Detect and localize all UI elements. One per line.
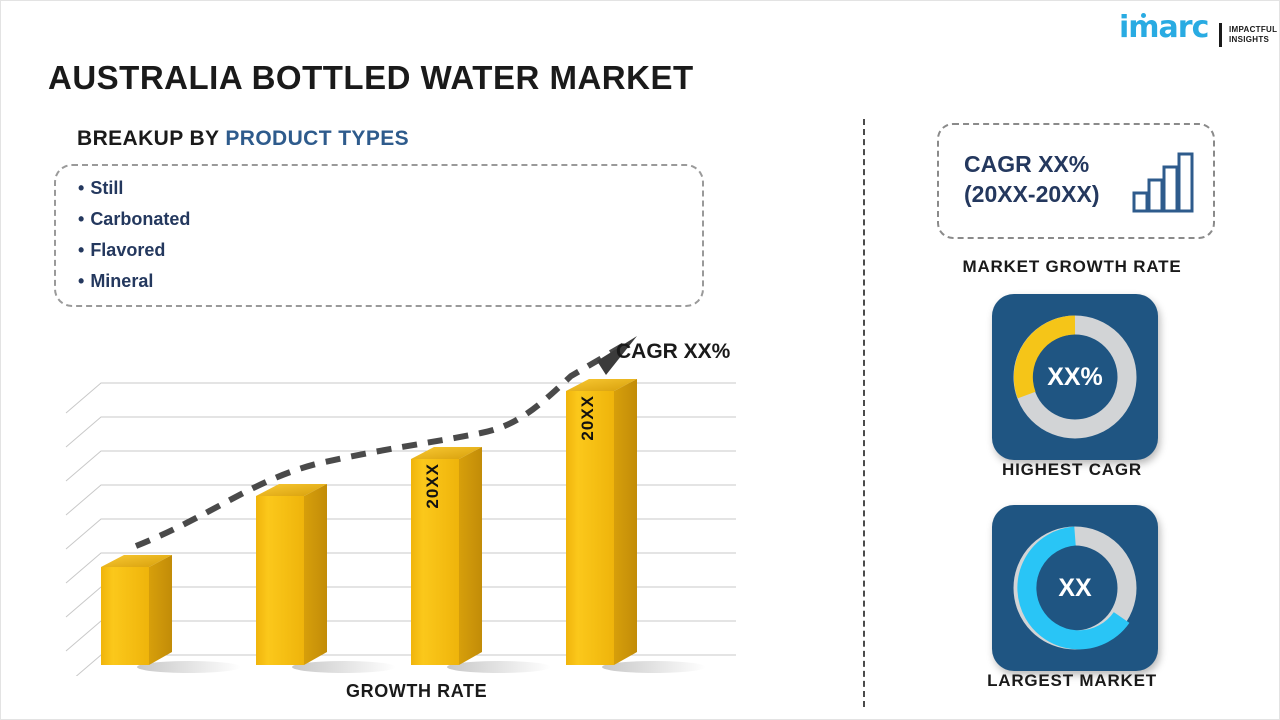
list-item-label: Mineral [90, 271, 153, 291]
chart-x-axis-label: GROWTH RATE [346, 681, 487, 702]
market-growth-rate-caption: MARKET GROWTH RATE [863, 257, 1280, 277]
bar-chart-icon [1132, 151, 1194, 213]
highest-cagr-donut-icon [992, 294, 1158, 460]
infographic-page: imarc IMPACTFUL INSIGHTS AUSTRALIA BOTTL… [0, 0, 1280, 720]
bullet-icon: • [78, 178, 84, 198]
cagr-summary-box: CAGR XX% (20XX-20XX) [937, 123, 1215, 239]
bullet-icon: • [78, 240, 84, 260]
logo-tagline-line2: INSIGHTS [1229, 35, 1277, 45]
logo-dot-icon [1141, 13, 1146, 18]
product-types-box: •Still •Carbonated •Flavored •Mineral [54, 164, 704, 307]
bar-3 [411, 447, 482, 665]
page-title: AUSTRALIA BOTTLED WATER MARKET [48, 59, 694, 97]
cagr-trend-label: CAGR XX% [616, 340, 730, 364]
breakup-heading-highlight: PRODUCT TYPES [225, 127, 409, 150]
bar-label-3: 20XX [423, 463, 443, 509]
chart-canvas [61, 331, 751, 676]
list-item: •Still [78, 178, 123, 199]
list-item: •Mineral [78, 271, 153, 292]
logo-divider [1219, 23, 1222, 47]
bar-label-4: 20XX [578, 395, 598, 441]
largest-market-card: XX [992, 505, 1158, 671]
breakup-heading: BREAKUP BY PRODUCT TYPES [77, 127, 409, 151]
bullet-icon: • [78, 209, 84, 229]
bar-1 [101, 555, 172, 665]
list-item-label: Carbonated [90, 209, 190, 229]
breakup-heading-prefix: BREAKUP BY [77, 127, 219, 150]
bar-4 [566, 379, 637, 665]
cagr-period: (20XX-20XX) [964, 179, 1100, 209]
bullet-icon: • [78, 271, 84, 291]
cagr-summary-text: CAGR XX% (20XX-20XX) [964, 149, 1100, 209]
growth-rate-bar-chart: 20XX 20XX CAGR XX% GROWTH RATE [61, 331, 751, 711]
list-item: •Flavored [78, 240, 165, 261]
list-item: •Carbonated [78, 209, 190, 230]
imarc-logo: imarc IMPACTFUL INSIGHTS [1119, 13, 1269, 53]
panel-divider [863, 119, 865, 707]
largest-market-caption: LARGEST MARKET [863, 671, 1280, 691]
bar-2 [256, 484, 327, 665]
cagr-value: CAGR XX% [964, 149, 1100, 179]
trend-line [136, 336, 637, 546]
list-item-label: Flavored [90, 240, 165, 260]
list-item-label: Still [90, 178, 123, 198]
highest-cagr-card: XX% [992, 294, 1158, 460]
logo-tagline-line1: IMPACTFUL [1229, 25, 1277, 35]
highest-cagr-caption: HIGHEST CAGR [863, 460, 1280, 480]
largest-market-donut-icon [992, 505, 1158, 671]
logo-tagline: IMPACTFUL INSIGHTS [1229, 25, 1277, 45]
